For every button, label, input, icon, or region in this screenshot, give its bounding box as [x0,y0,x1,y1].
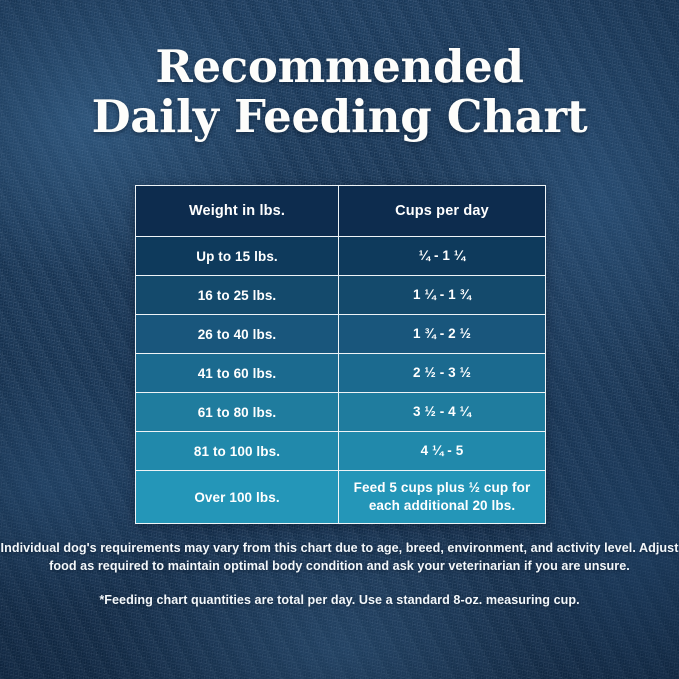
table-header: Weight in lbs. Cups per day [136,186,546,237]
table-header-row: Weight in lbs. Cups per day [136,186,546,237]
cell-cups: 2 ½ - 3 ½ [339,354,546,393]
table-row: 81 to 100 lbs.4 ¼ - 5 [136,432,546,471]
cell-weight: 26 to 40 lbs. [136,315,339,354]
page-title-line-1: Recommended [0,44,679,90]
table-body: Up to 15 lbs.¼ - 1 ¼16 to 25 lbs.1 ¼ - 1… [136,237,546,524]
cell-weight: 81 to 100 lbs. [136,432,339,471]
table-row: 41 to 60 lbs.2 ½ - 3 ½ [136,354,546,393]
table-row: 16 to 25 lbs.1 ¼ - 1 ¾ [136,276,546,315]
feeding-chart-table: Weight in lbs. Cups per day Up to 15 lbs… [135,185,546,524]
cell-weight: 41 to 60 lbs. [136,354,339,393]
cell-weight: Over 100 lbs. [136,471,339,524]
table-row: 61 to 80 lbs.3 ½ - 4 ¼ [136,393,546,432]
page-title-line-2: Daily Feeding Chart [0,94,679,140]
feeding-chart-poster: Recommended Daily Feeding Chart Weight i… [0,0,679,679]
column-header-weight: Weight in lbs. [136,186,339,237]
cell-cups: ¼ - 1 ¼ [339,237,546,276]
note-disclaimer: Individual dog's requirements may vary f… [0,540,679,576]
note-measuring-cup: *Feeding chart quantities are total per … [0,592,679,610]
table-row: Over 100 lbs.Feed 5 cups plus ½ cup for … [136,471,546,524]
cell-weight: 61 to 80 lbs. [136,393,339,432]
cell-cups: 1 ¾ - 2 ½ [339,315,546,354]
column-header-cups: Cups per day [339,186,546,237]
table-row: 26 to 40 lbs.1 ¾ - 2 ½ [136,315,546,354]
page-title: Recommended Daily Feeding Chart [0,44,679,141]
cell-cups: 4 ¼ - 5 [339,432,546,471]
cell-cups: 3 ½ - 4 ¼ [339,393,546,432]
cell-cups: Feed 5 cups plus ½ cup for each addition… [339,471,546,524]
cell-cups: 1 ¼ - 1 ¾ [339,276,546,315]
footer-notes: Individual dog's requirements may vary f… [0,540,679,610]
cell-weight: 16 to 25 lbs. [136,276,339,315]
cell-weight: Up to 15 lbs. [136,237,339,276]
table-row: Up to 15 lbs.¼ - 1 ¼ [136,237,546,276]
